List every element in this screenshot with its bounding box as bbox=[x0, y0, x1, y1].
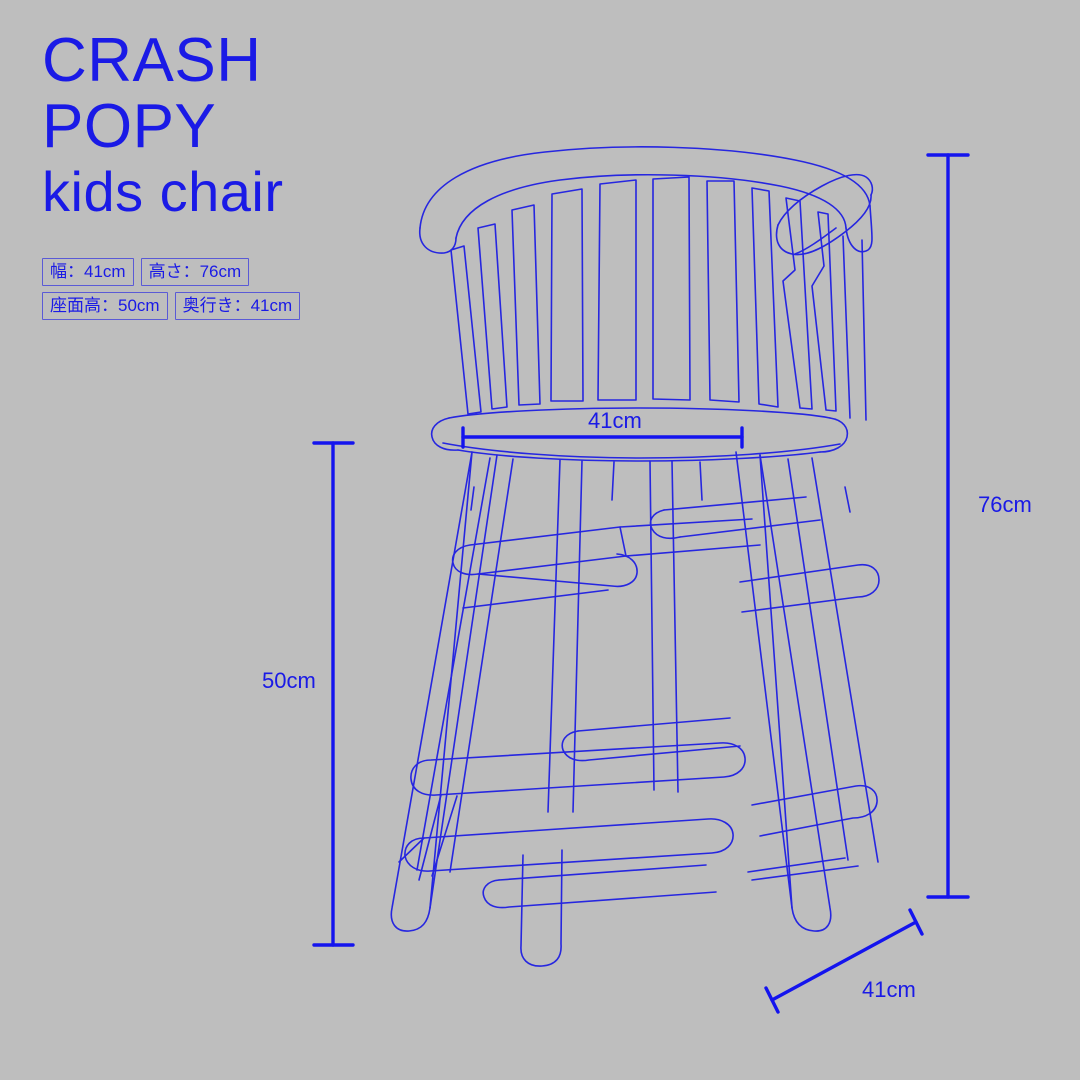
dimension-label-depth: 41cm bbox=[862, 978, 916, 1002]
dimension-label-seat-height: 50cm bbox=[262, 669, 316, 693]
chair-back-spindles bbox=[451, 177, 836, 414]
dimension-seat-height bbox=[314, 443, 353, 945]
chair-right-back-post bbox=[843, 236, 866, 420]
chair-center-post bbox=[521, 850, 562, 966]
chair-legs bbox=[391, 452, 878, 931]
chair-stretchers bbox=[399, 497, 879, 908]
diagram-canvas: CRASH POPY kids chair 幅：41cm 高さ：76cm 座面高… bbox=[0, 0, 1080, 1080]
chair-detail-lines bbox=[471, 462, 850, 512]
chair-technical-drawing bbox=[0, 0, 1080, 1080]
dimension-lines bbox=[314, 155, 968, 1012]
dimension-label-width: 41cm bbox=[588, 409, 642, 433]
dimension-height bbox=[928, 155, 968, 897]
chair-crest-rail bbox=[420, 147, 872, 253]
dimension-label-height: 76cm bbox=[978, 493, 1032, 517]
